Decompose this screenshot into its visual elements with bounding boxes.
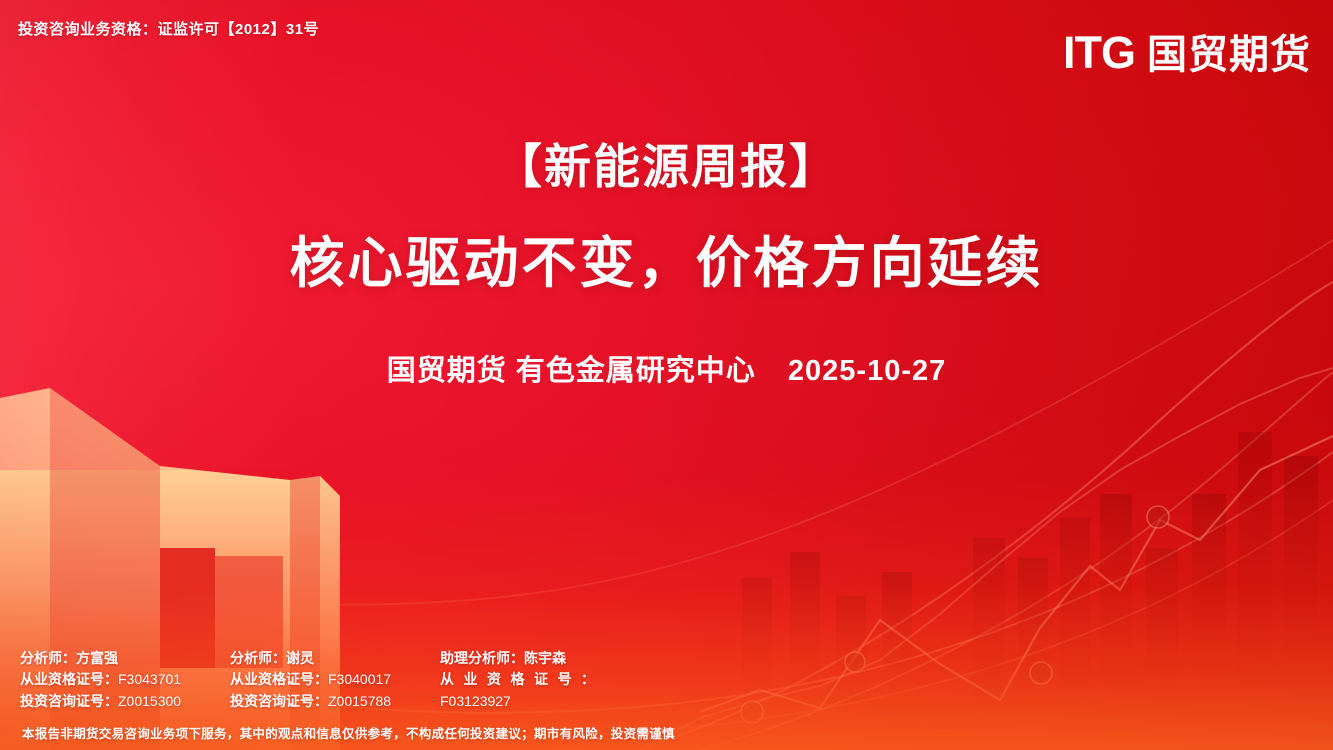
analyst-consult-row-1: 投资咨询证号：Z0015300 bbox=[20, 690, 230, 712]
qualification-statement: 投资咨询业务资格：证监许可【2012】31号 bbox=[18, 18, 319, 39]
analyst-column-1: 分析师：方富强 从业资格证号：F3043701 投资咨询证号：Z0015300 bbox=[20, 648, 230, 712]
analyst-consult-value-2: Z0015788 bbox=[328, 693, 391, 709]
analyst-license-value-3: F03123927 bbox=[440, 690, 740, 712]
analyst-consult-label-2: 投资咨询证号： bbox=[230, 693, 328, 709]
analyst-column-3: 助理分析师：陈宇森 从业资格证号： F03123927 bbox=[440, 648, 740, 712]
logo-chinese-text: 国贸期货 bbox=[1147, 35, 1311, 75]
analyst-license-value-2: F3040017 bbox=[328, 671, 391, 687]
company-logo: ITG 国贸期货 bbox=[1063, 30, 1311, 75]
report-category-title: 【新能源周报】 bbox=[0, 140, 1333, 194]
analyst-consult-value-1: Z0015300 bbox=[118, 693, 181, 709]
analyst-license-label-2: 从业资格证号： bbox=[230, 671, 328, 687]
analyst-license-row-2: 从业资格证号：F3040017 bbox=[230, 668, 440, 690]
disclaimer-text: 本报告非期货交易咨询业务项下服务，其中的观点和信息仅供参考，不构成任何投资建议；… bbox=[22, 723, 675, 742]
analyst-name-2: 分析师：谢灵 bbox=[230, 648, 440, 668]
byline-date: 2025-10-27 bbox=[788, 355, 946, 387]
analyst-consult-label-1: 投资咨询证号： bbox=[20, 693, 118, 709]
analyst-license-label-3: 从业资格证号： bbox=[440, 668, 595, 690]
analyst-credentials-block: 分析师：方富强 从业资格证号：F3043701 投资咨询证号：Z0015300 … bbox=[20, 648, 740, 712]
analyst-column-2: 分析师：谢灵 从业资格证号：F3040017 投资咨询证号：Z0015788 bbox=[230, 648, 440, 712]
title-block: 【新能源周报】 核心驱动不变，价格方向延续 国贸期货 有色金属研究中心 2025… bbox=[0, 140, 1333, 389]
analyst-license-value-1: F3043701 bbox=[118, 671, 181, 687]
byline: 国贸期货 有色金属研究中心 2025-10-27 bbox=[0, 347, 1333, 389]
analyst-consult-row-2: 投资咨询证号：Z0015788 bbox=[230, 690, 440, 712]
analyst-license-label-1: 从业资格证号： bbox=[20, 671, 118, 687]
report-headline: 核心驱动不变，价格方向延续 bbox=[0, 232, 1333, 295]
analyst-name-3: 助理分析师：陈宇森 bbox=[440, 648, 740, 668]
slide-root: 投资咨询业务资格：证监许可【2012】31号 ITG 国贸期货 【新能源周报】 … bbox=[0, 0, 1333, 750]
analyst-license-row-1: 从业资格证号：F3043701 bbox=[20, 668, 230, 690]
analyst-name-1: 分析师：方富强 bbox=[20, 648, 230, 668]
byline-organization: 国贸期货 有色金属研究中心 bbox=[387, 355, 756, 387]
logo-latin-text: ITG bbox=[1063, 30, 1135, 75]
